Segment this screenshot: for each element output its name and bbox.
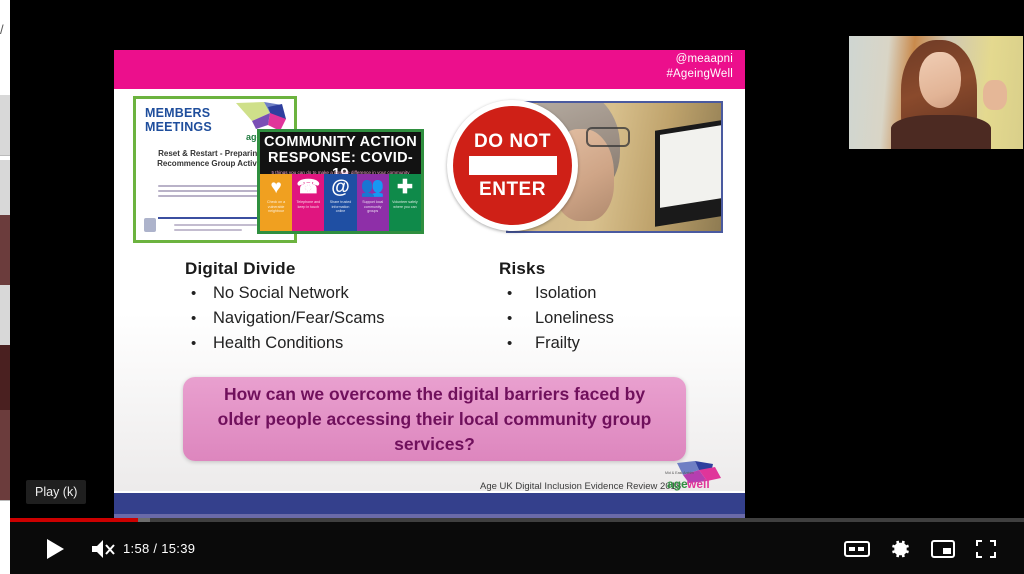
poster-tile: 👥 Support local community groups <box>357 174 389 231</box>
glasses-icon <box>586 127 630 147</box>
player-controls[interactable]: 1:58 / 15:39 <box>10 518 1024 574</box>
list-item: Isolation <box>499 281 729 306</box>
poster-tile-caption: Share trusted information online <box>324 198 356 214</box>
fullscreen-icon <box>975 539 997 559</box>
volume-muted-icon <box>90 537 116 561</box>
play-button[interactable] <box>36 530 74 568</box>
list-item: Loneliness <box>499 306 729 331</box>
slide-body: MEMBERS MEETINGS age well Reset <box>114 89 745 497</box>
sign-top-text: DO NOT <box>474 131 551 152</box>
settings-button[interactable] <box>881 530 919 568</box>
video-player[interactable]: @meaapni #AgeingWell MEMBERS MEETINGS <box>10 0 1024 574</box>
column-heading: Digital Divide <box>185 259 485 279</box>
svg-text:well: well <box>686 477 710 491</box>
poster-tiles: ♥ Check on a vulnerable neighbour ☎ Tele… <box>260 174 421 231</box>
column-heading: Risks <box>499 259 729 279</box>
poster-tile: ☎ Telephone and keep in touch <box>292 174 324 231</box>
question-callout: How can we overcome the digital barriers… <box>183 377 686 461</box>
closed-captions-icon <box>844 540 870 558</box>
subtitles-button[interactable] <box>838 530 876 568</box>
hashtag: #AgeingWell <box>666 68 733 80</box>
column-list: No Social Network Navigation/Fear/Scams … <box>185 281 485 356</box>
do-not-enter-sign: DO NOT ENTER <box>447 100 578 231</box>
slide-image-strip: MEMBERS MEETINGS age well Reset <box>114 89 745 249</box>
svg-text:age: age <box>667 477 688 491</box>
poster-tile-caption: Volunteer safely where you can <box>389 198 421 209</box>
question-text: How can we overcome the digital barriers… <box>203 382 666 457</box>
mute-button[interactable] <box>84 530 122 568</box>
people-icon: 👥 <box>361 178 385 198</box>
poster-heading-line1: COMMUNITY ACTION <box>260 134 421 150</box>
poster-tile: ♥ Check on a vulnerable neighbour <box>260 174 292 231</box>
poster-tile: ✚ Volunteer safely where you can <box>389 174 421 231</box>
column-list: Isolation Loneliness Frailty <box>499 281 729 356</box>
play-tooltip: Play (k) <box>26 480 86 504</box>
list-item: No Social Network <box>185 281 485 306</box>
fullscreen-button[interactable] <box>967 530 1005 568</box>
presenter-webcam <box>848 35 1024 150</box>
poster-tile-caption: Support local community groups <box>357 198 389 214</box>
digital-divide-column: Digital Divide No Social Network Navigat… <box>185 259 485 356</box>
community-action-response-poster: COMMUNITY ACTION RESPONSE: COVID-19 5 th… <box>257 129 424 234</box>
flyer-corner-mark <box>144 218 156 232</box>
time-display: 1:58 / 15:39 <box>123 541 195 556</box>
flyer-title-line2: MEETINGS <box>145 120 212 134</box>
slide-banner: @meaapni #AgeingWell <box>114 50 745 89</box>
agewell-logo-icon: Mid & East Antrim age well Partnership <box>663 461 725 495</box>
heart-icon: ♥ <box>270 178 281 198</box>
list-item: Frailty <box>499 331 729 356</box>
svg-text:Mid & East Antrim: Mid & East Antrim <box>665 471 694 475</box>
at-sign-icon: @ <box>331 178 350 198</box>
gear-icon <box>889 538 911 560</box>
phone-icon: ☎ <box>296 178 320 198</box>
sign-bar <box>469 156 557 175</box>
flyer-title: MEMBERS MEETINGS <box>145 106 212 134</box>
poster-tile: @ Share trusted information online <box>324 174 356 231</box>
plus-icon: ✚ <box>397 178 413 198</box>
presentation-slide: @meaapni #AgeingWell MEMBERS MEETINGS <box>114 50 745 518</box>
risks-column: Risks Isolation Loneliness Frailty <box>499 259 729 356</box>
poster-tile-caption: Telephone and keep in touch <box>292 198 324 209</box>
sign-bottom-text: ENTER <box>479 179 546 200</box>
flyer-title-line1: MEMBERS <box>145 106 212 120</box>
miniplayer-icon <box>931 539 955 559</box>
twitter-handle: @meaapni <box>676 53 733 65</box>
list-item: Navigation/Fear/Scams <box>185 306 485 331</box>
video-viewport[interactable]: @meaapni #AgeingWell MEMBERS MEETINGS <box>10 0 1024 518</box>
poster-tile-caption: Check on a vulnerable neighbour <box>260 198 292 214</box>
miniplayer-button[interactable] <box>924 530 962 568</box>
list-item: Health Conditions <box>185 331 485 356</box>
play-icon <box>45 538 65 560</box>
slide-footer-bar <box>114 491 745 518</box>
